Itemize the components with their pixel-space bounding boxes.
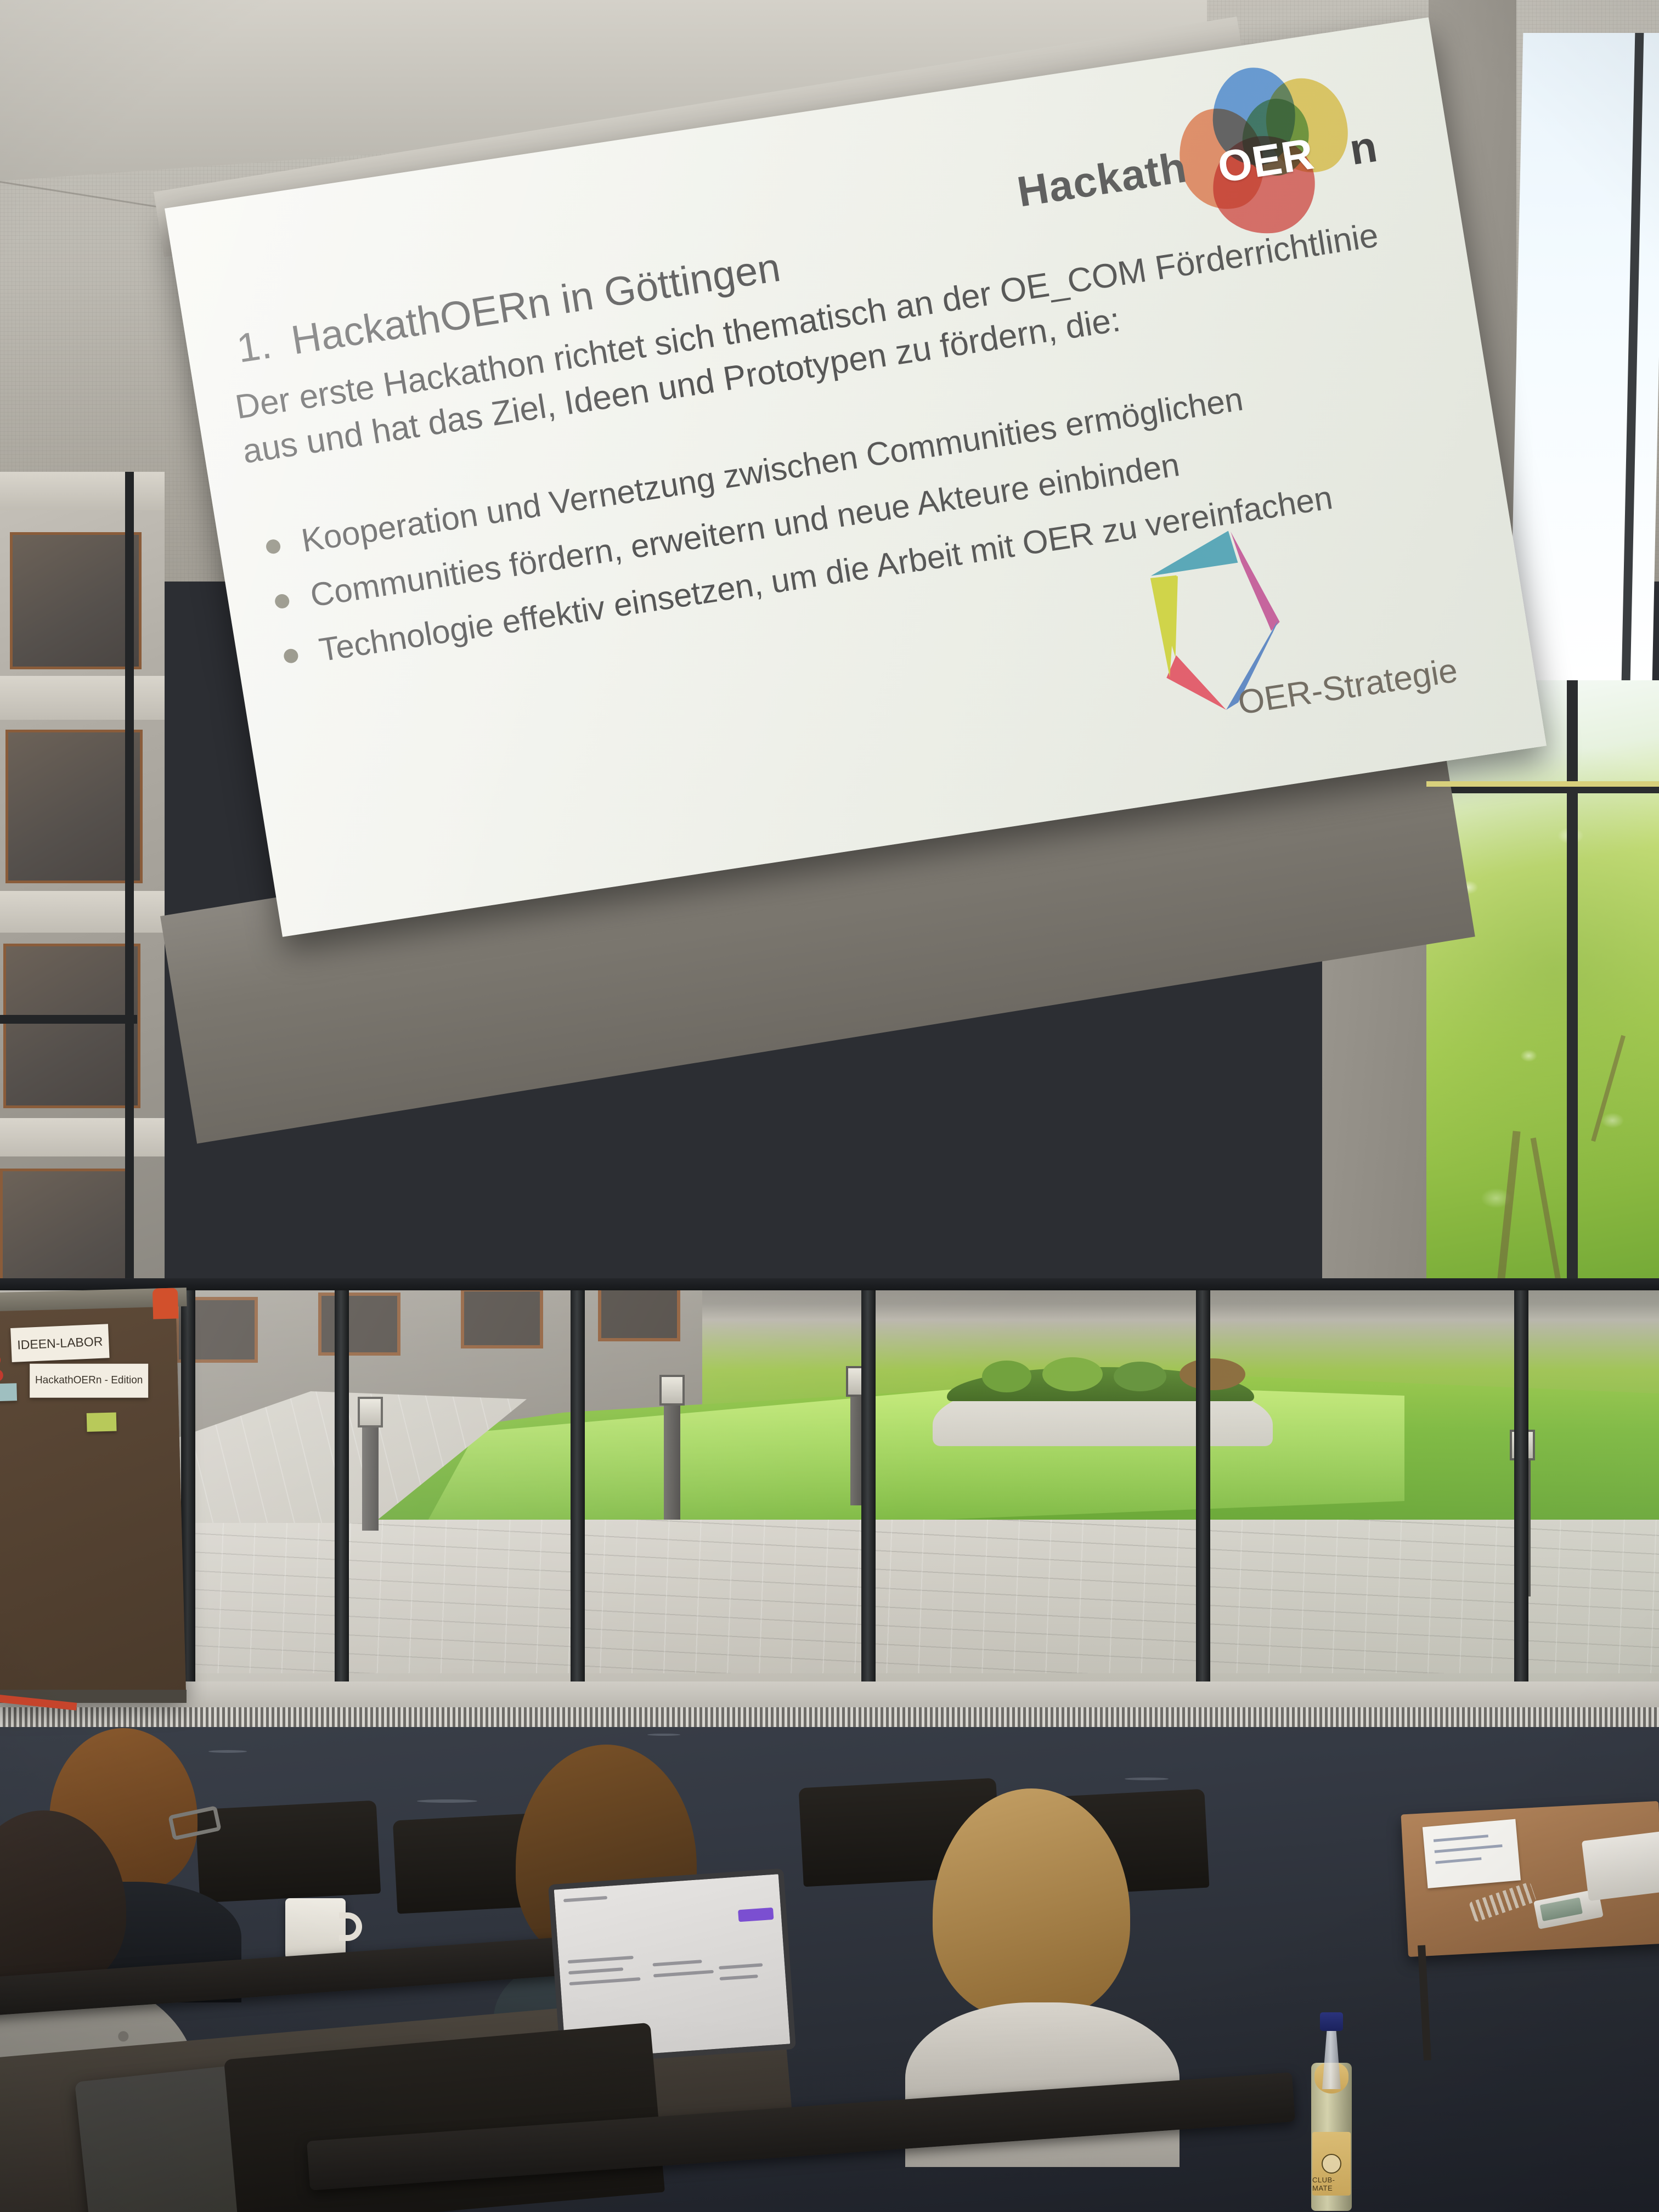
bollard-light xyxy=(664,1404,680,1520)
bollard-light xyxy=(362,1426,379,1531)
floor-ventilation-grille xyxy=(0,1707,1659,1727)
facade-window xyxy=(598,1284,680,1341)
facade-window xyxy=(5,730,143,883)
seat-back[interactable] xyxy=(195,1800,381,1903)
oer-strategie-logo: OER-Strategie xyxy=(1126,473,1504,779)
club-mate-bottle[interactable]: CLUB-MATE xyxy=(1311,1997,1352,2211)
bottle-cap xyxy=(1320,2012,1343,2031)
presentation-photo-scene: Hackath OER n 1.HackathOERn in Göttingen… xyxy=(0,0,1659,2212)
window-mullion xyxy=(571,1278,585,1717)
laptop-ui-accent xyxy=(738,1908,774,1922)
window-mullion xyxy=(861,1278,876,1717)
pinboard-note-ideen-labor: IDEEN-LABOR xyxy=(10,1324,110,1362)
pinboard-note-edition: HackathOERn - Edition xyxy=(30,1364,148,1398)
facade-window xyxy=(3,944,140,1108)
window-mullion xyxy=(335,1278,349,1717)
facade-window xyxy=(318,1293,400,1356)
projection-screen-assembly: Hackath OER n 1.HackathOERn in Göttingen… xyxy=(165,208,1509,1141)
tree-branch xyxy=(1531,1138,1564,1295)
control-panel-display xyxy=(1540,1897,1583,1921)
facade-window xyxy=(10,532,142,669)
bollard-lamp-head xyxy=(659,1375,685,1406)
bottle-label: CLUB-MATE xyxy=(1312,2132,1351,2196)
left-window-facade-view xyxy=(0,472,165,1328)
window-mullion xyxy=(125,472,134,1328)
courtyard-shrub xyxy=(1042,1357,1103,1391)
window-trim xyxy=(1426,781,1659,787)
window-mullion xyxy=(1567,680,1578,1328)
window-mullion xyxy=(1514,1278,1528,1717)
facade-band xyxy=(0,1118,165,1156)
pinboard-pin xyxy=(0,1354,1,1367)
logo-word-suffix: n xyxy=(1346,121,1380,175)
bottle-emblem-icon xyxy=(1322,2154,1341,2174)
courtyard-shrub xyxy=(1180,1358,1245,1390)
facade-band xyxy=(0,676,165,720)
lectern-desk[interactable] xyxy=(1401,1801,1659,1957)
bottle-neck xyxy=(1322,2023,1341,2089)
logo-word-prefix: Hackath xyxy=(1014,142,1190,217)
tree-branch xyxy=(1591,1035,1626,1142)
window-mullion xyxy=(1196,1278,1210,1717)
pinboard-corner-accent xyxy=(153,1288,178,1319)
pinboard-pin xyxy=(0,1369,3,1382)
pinboard-sticky-note xyxy=(0,1383,17,1401)
courtyard-shrub xyxy=(982,1361,1031,1392)
courtyard-view xyxy=(0,1278,1659,1695)
slide-title-number: 1. xyxy=(234,321,275,371)
courtyard-shrub xyxy=(1114,1362,1166,1391)
bollard-lamp-head xyxy=(358,1397,383,1427)
window-head-rail xyxy=(0,1278,1659,1290)
courtyard-paving xyxy=(0,1520,1659,1673)
window-mullion xyxy=(0,1015,137,1024)
pinboard-sticky-note xyxy=(87,1412,117,1431)
pinboard: IDEEN-LABOR HackathOERn - Edition xyxy=(0,1304,186,1703)
facade-band xyxy=(0,472,165,510)
bottle-brand-text: CLUB-MATE xyxy=(1312,2176,1351,2192)
facade-band xyxy=(0,891,165,933)
facade-window xyxy=(461,1288,543,1348)
lectern-paper[interactable] xyxy=(1423,1819,1521,1888)
projector-unit xyxy=(1582,1831,1659,1901)
